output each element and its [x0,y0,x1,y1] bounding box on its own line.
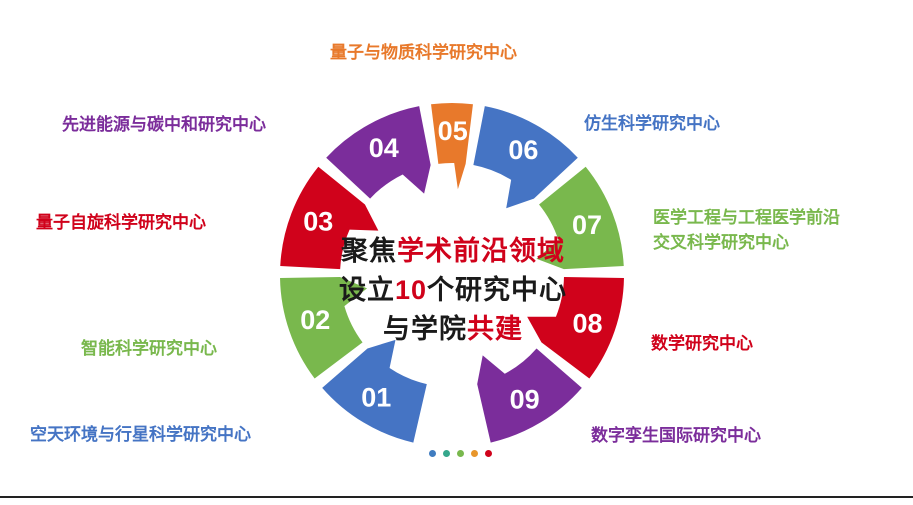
segment-number-04: 04 [369,133,399,163]
center-message: 聚焦学术前沿领域 设立10个研究中心 与学院共建 [318,232,588,349]
decorative-dots [429,450,492,457]
segment-number-06: 06 [508,135,538,165]
dot-3 [457,450,464,457]
center-line1-highlight: 学术前沿领域 [397,236,565,266]
dot-1 [429,450,436,457]
bottom-divider [0,496,913,498]
center-line3-highlight: 共建 [467,314,523,344]
segment-number-09: 09 [510,384,540,414]
center-line3-plain: 与学院 [383,314,467,344]
label-09[interactable]: 数字孪生国际研究中心 [591,424,761,448]
center-line-3: 与学院共建 [318,310,588,349]
label-04[interactable]: 先进能源与碳中和研究中心 [62,113,266,137]
dot-2 [443,450,450,457]
center-line2-plain-a: 设立 [339,275,395,305]
label-01[interactable]: 空天环境与行星科学研究中心 [30,423,251,447]
label-06[interactable]: 仿生科学研究中心 [584,112,720,136]
segment-number-05: 05 [438,116,468,146]
label-07a[interactable]: 医学工程与工程医学前沿 [653,206,840,230]
center-line-2: 设立10个研究中心 [318,271,588,310]
label-07b[interactable]: 交叉科学研究中心 [653,231,789,255]
dot-4 [471,450,478,457]
center-line1-plain: 聚焦 [341,236,397,266]
label-03[interactable]: 量子自旋科学研究中心 [36,211,206,235]
label-05[interactable]: 量子与物质科学研究中心 [330,41,517,65]
center-line2-plain-b: 个研究中心 [427,275,567,305]
segment-number-01: 01 [361,382,391,412]
center-line2-number: 10 [395,275,427,305]
slide-canvas: 010203040506070809 聚焦学术前沿领域 设立10个研究中心 与学… [0,0,913,505]
center-line-1: 聚焦学术前沿领域 [318,232,588,271]
label-08[interactable]: 数学研究中心 [651,332,753,356]
label-02[interactable]: 智能科学研究中心 [81,337,217,361]
dot-5 [485,450,492,457]
